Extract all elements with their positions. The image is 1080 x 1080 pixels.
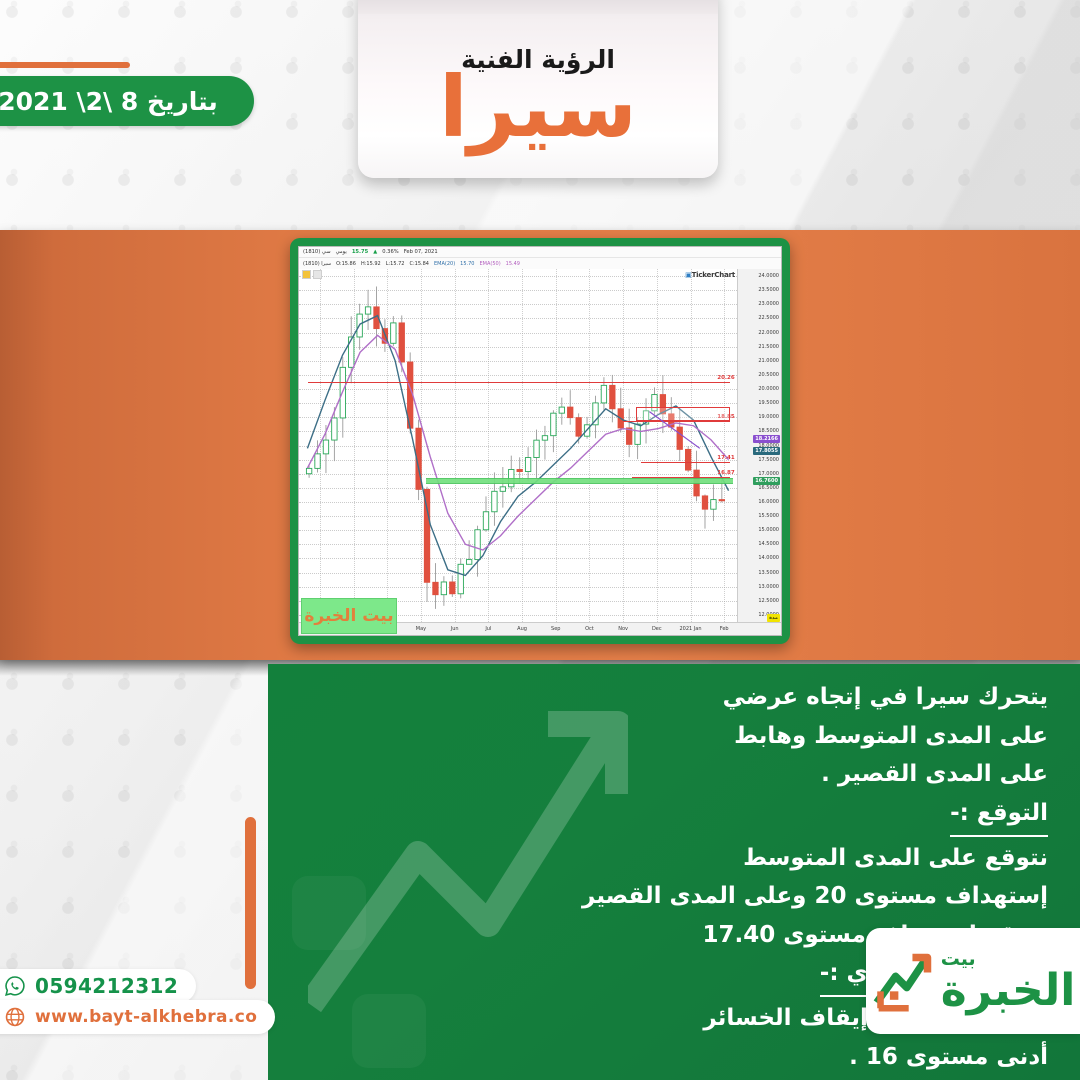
chart-watermark-label: بيت الخبرة bbox=[304, 606, 393, 626]
price-tick-label: 20.5000 bbox=[758, 372, 779, 378]
date-tick-label: Nov bbox=[618, 626, 628, 632]
date-tick-label: Jun bbox=[451, 626, 459, 632]
brand-logo-main-word: الخبرة bbox=[941, 969, 1076, 1013]
price-tick-label: 21.5000 bbox=[758, 344, 779, 350]
analysis-line-2: على المدى المتوسط وهابط bbox=[348, 717, 1048, 756]
poster-root: الرؤية الفنية سيرا بتاريخ 8 \2\ 2021 سي … bbox=[0, 0, 1080, 1080]
growth-arrow-icon bbox=[871, 950, 937, 1012]
date-tick-label: May bbox=[416, 626, 426, 632]
analysis-line-1: يتحرك سيرا في إتجاه عرضي bbox=[348, 678, 1048, 717]
analysis-line-4: نتوقع على المدى المتوسط bbox=[348, 839, 1048, 878]
chart-close: C:15.84 bbox=[410, 261, 430, 267]
ema-line bbox=[307, 335, 728, 550]
candlestick-series bbox=[299, 269, 737, 622]
whatsapp-number: 0594212312 bbox=[35, 974, 178, 998]
price-tick-label: 15.0000 bbox=[758, 527, 779, 533]
chart-frame: سي (1810) يومي 15.75 ▲ 0.36% Feb 07, 202… bbox=[290, 238, 790, 644]
date-tick-label: Sep bbox=[551, 626, 560, 632]
price-tick-label: 24.0000 bbox=[758, 273, 779, 279]
price-marker-purple: 18.2166 bbox=[753, 435, 780, 443]
chart-info-row-primary: سي (1810) يومي 15.75 ▲ 0.36% Feb 07, 202… bbox=[299, 247, 781, 258]
date-tick-label: 2021 Jan bbox=[679, 626, 701, 632]
chart-ema50-value: 15.49 bbox=[506, 261, 520, 267]
up-arrow-icon: ▲ bbox=[373, 249, 377, 255]
resistance-label: 20.26 bbox=[717, 375, 734, 381]
chart-symbol-label: سي (1810) bbox=[303, 249, 331, 255]
support-zone bbox=[426, 478, 733, 485]
date-tick-label: Feb bbox=[720, 626, 729, 632]
whatsapp-icon bbox=[4, 975, 26, 997]
chart-open: O:15.86 bbox=[336, 261, 356, 267]
chart-plot-area: 20.2618.8517.4116.87 bbox=[299, 269, 737, 622]
price-tick-label: 18.5000 bbox=[758, 428, 779, 434]
website-url: www.bayt-alkhebra.co bbox=[35, 1007, 257, 1027]
orange-accent-bar bbox=[245, 817, 256, 989]
resistance-line bbox=[308, 382, 731, 383]
price-tick-label: 19.0000 bbox=[758, 414, 779, 420]
brand-logo-words: بيت الخبرة bbox=[941, 950, 1076, 1013]
price-tick-label: 23.0000 bbox=[758, 301, 779, 307]
price-tick-label: 13.0000 bbox=[758, 584, 779, 590]
price-tick-label: 16.5000 bbox=[758, 485, 779, 491]
date-badge: بتاريخ 8 \2\ 2021 bbox=[0, 76, 254, 126]
chart-canvas[interactable]: سي (1810) يومي 15.75 ▲ 0.36% Feb 07, 202… bbox=[298, 246, 782, 636]
header-card: الرؤية الفنية سيرا bbox=[358, 0, 718, 178]
price-tick-label: 14.5000 bbox=[758, 541, 779, 547]
price-marker-timer: مدة bbox=[767, 614, 780, 622]
price-tick-label: 13.5000 bbox=[758, 570, 779, 576]
chart-ohlc-symbol: سيرا (1810) bbox=[303, 261, 331, 267]
resistance-label: 17.41 bbox=[717, 455, 734, 461]
header-title: سيرا bbox=[439, 68, 637, 148]
analysis-line-3: على المدى القصير . bbox=[348, 755, 1048, 794]
chart-low: L:15.72 bbox=[386, 261, 405, 267]
date-rule bbox=[0, 62, 130, 68]
date-badge-label: بتاريخ 8 \2\ 2021 bbox=[0, 87, 232, 116]
forecast-heading: التوقع :- bbox=[950, 794, 1048, 837]
date-tick-label: Jul bbox=[485, 626, 491, 632]
price-tick-label: 12.5000 bbox=[758, 598, 779, 604]
chart-watermark: بيت الخبرة bbox=[301, 598, 397, 634]
price-tick-label: 14.0000 bbox=[758, 555, 779, 561]
tickerchart-label: TickerChart bbox=[692, 271, 735, 279]
date-tick-label: Dec bbox=[652, 626, 662, 632]
chart-info-row-ohlc: سيرا (1810) O:15.86 H:15.92 L:15.72 C:15… bbox=[299, 258, 781, 269]
date-tick-label: Aug bbox=[517, 626, 527, 632]
price-tick-label: 21.0000 bbox=[758, 358, 779, 364]
chart-high: H:15.92 bbox=[361, 261, 381, 267]
price-tick-label: 23.5000 bbox=[758, 287, 779, 293]
chart-last-price: 15.75 bbox=[352, 249, 368, 255]
chart-ema20-label: EMA(20) bbox=[434, 261, 455, 267]
chart-ema20-value: 15.70 bbox=[460, 261, 474, 267]
settings-icon[interactable] bbox=[313, 270, 322, 279]
analysis-line-5: إستهداف مستوى 20 وعلى المدى القصير bbox=[348, 877, 1048, 916]
price-tick-label: 17.5000 bbox=[758, 457, 779, 463]
price-axis[interactable]: 24.000023.500023.000022.500022.000021.50… bbox=[737, 269, 781, 622]
chart-date-label: Feb 07, 2021 bbox=[404, 249, 438, 255]
analysis-line-8: أدنى مستوى 16 . bbox=[348, 1038, 1048, 1077]
price-marker-green: 16.7600 bbox=[753, 477, 780, 485]
brand-logo[interactable]: بيت الخبرة bbox=[866, 928, 1080, 1034]
tickerchart-logo: ▣TickerChart bbox=[685, 271, 735, 279]
ema-line bbox=[307, 316, 728, 576]
forecast-heading-wrap: التوقع :- bbox=[348, 794, 1048, 839]
resistance-label: 16.87 bbox=[717, 470, 734, 476]
consolidation-box bbox=[636, 407, 730, 421]
website-contact[interactable]: www.bayt-alkhebra.co bbox=[0, 1000, 275, 1034]
globe-icon bbox=[4, 1006, 26, 1028]
price-tick-label: 16.0000 bbox=[758, 499, 779, 505]
price-tick-label: 19.5000 bbox=[758, 400, 779, 406]
resistance-line bbox=[623, 421, 730, 422]
price-marker-teal: 17.8055 bbox=[753, 447, 780, 455]
price-tick-label: 22.0000 bbox=[758, 330, 779, 336]
resistance-line bbox=[641, 462, 731, 463]
chart-ema50-label: EMA(50) bbox=[480, 261, 501, 267]
resistance-line bbox=[632, 477, 731, 478]
price-tick-label: 20.0000 bbox=[758, 386, 779, 392]
chart-timeframe-label: يومي bbox=[336, 249, 347, 255]
warning-icon[interactable] bbox=[302, 270, 311, 279]
whatsapp-contact[interactable]: 0594212312 bbox=[0, 969, 196, 1003]
price-tick-label: 22.5000 bbox=[758, 315, 779, 321]
chart-change-percent: 0.36% bbox=[382, 249, 398, 255]
price-tick-label: 15.5000 bbox=[758, 513, 779, 519]
date-tick-label: Oct bbox=[585, 626, 594, 632]
chart-toolbar-icons[interactable] bbox=[302, 270, 322, 279]
